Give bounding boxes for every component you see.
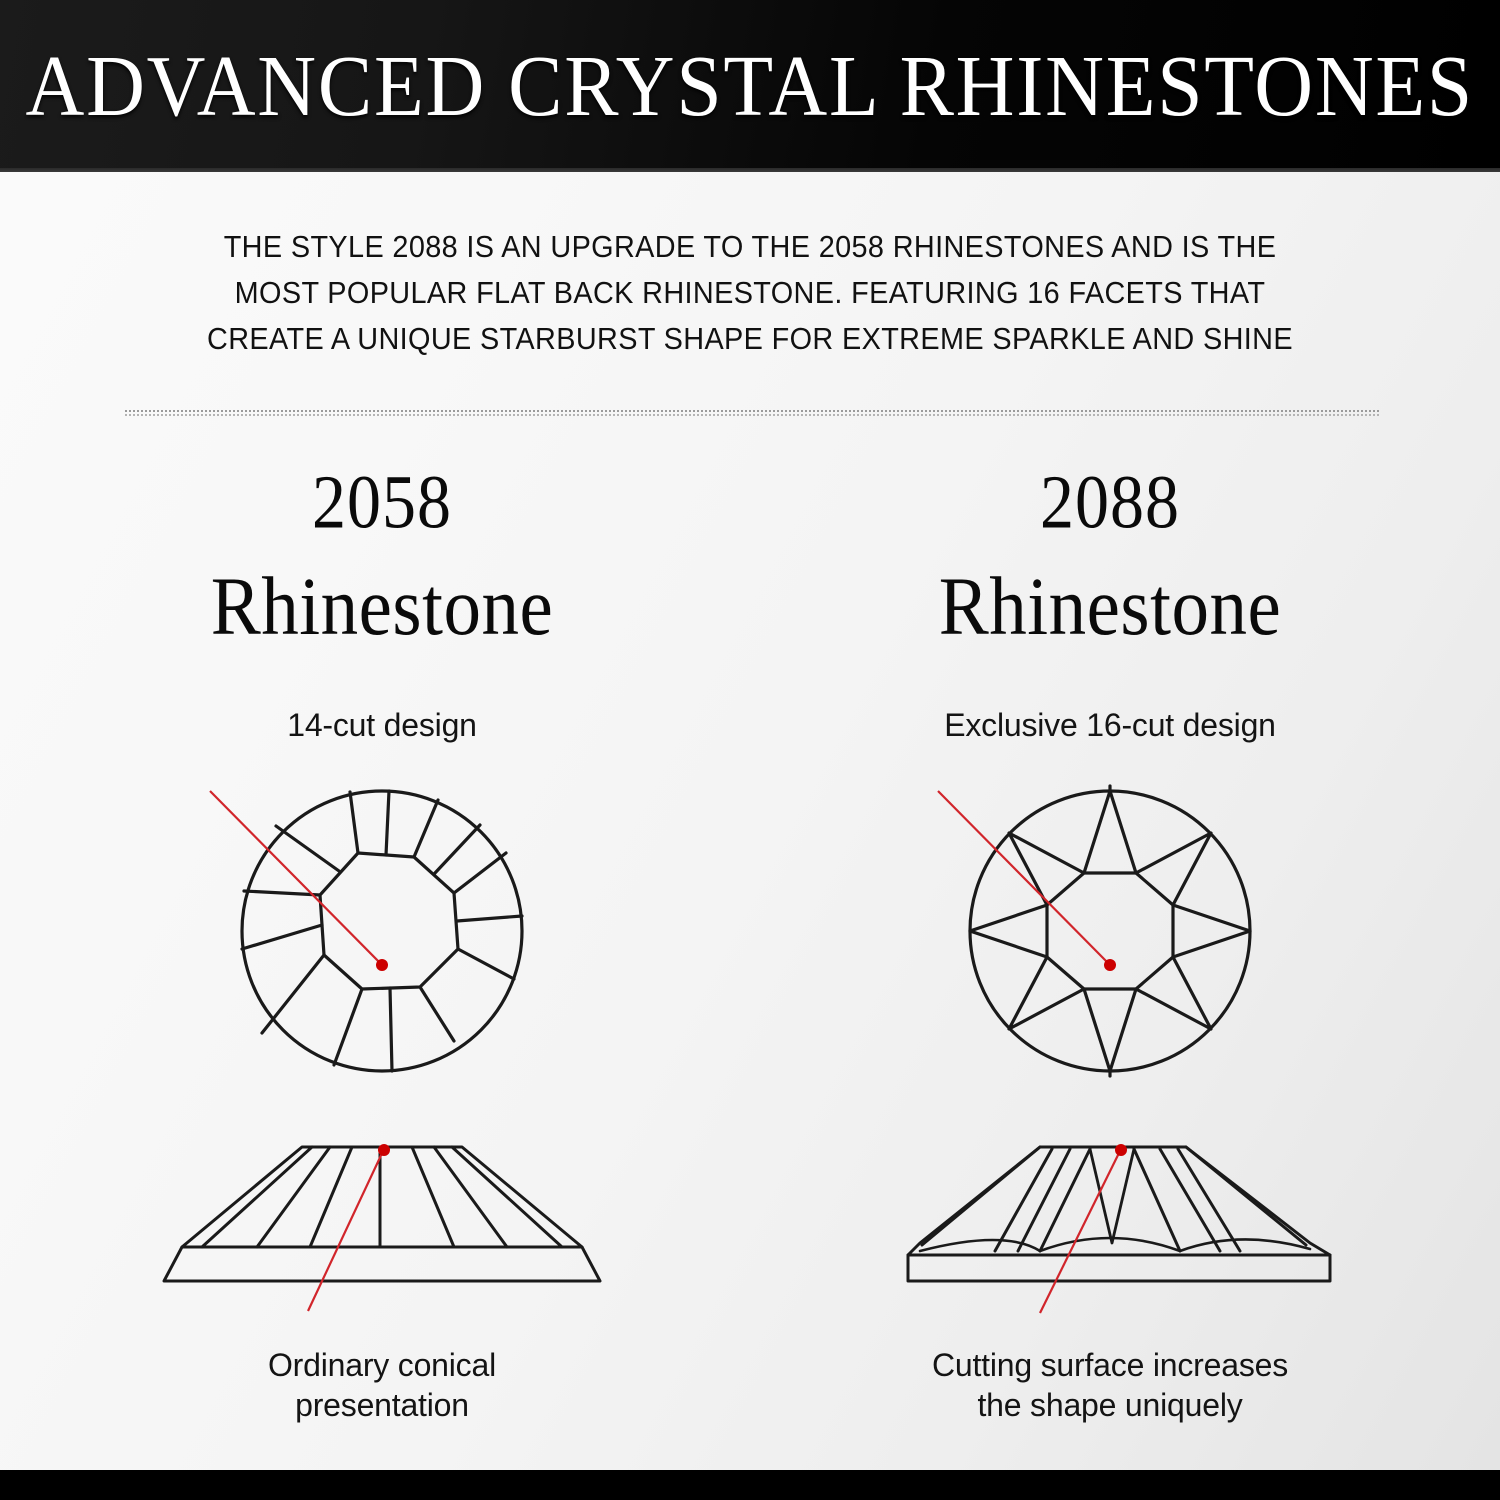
column-2058: 2058 Rhinestone 14-cut design — [62, 472, 702, 1425]
footer-bar — [0, 1470, 1500, 1500]
infographic-page: ADVANCED CRYSTAL RHINESTONES THE STYLE 2… — [0, 0, 1500, 1500]
content-panel: THE STYLE 2088 IS AN UPGRADE TO THE 2058… — [0, 172, 1500, 1470]
star-point-w — [970, 905, 1047, 957]
diagram-14-cut-topview — [62, 753, 702, 1083]
base-slab-icon — [908, 1255, 1330, 1281]
pointer-dot-icon — [1115, 1144, 1127, 1156]
inner-octagon-icon — [1047, 873, 1173, 989]
figure-2088-topview-label: Exclusive 16-cut design — [790, 705, 1430, 745]
pointer-dot-icon — [378, 1144, 390, 1156]
diagram-conical-sideview — [62, 1125, 702, 1315]
star-point-n — [1084, 791, 1136, 873]
pointer-line-icon — [308, 1149, 384, 1311]
page-title: ADVANCED CRYSTAL RHINESTONES — [26, 36, 1474, 136]
column-2058-number: 2058 — [62, 464, 702, 540]
column-2058-word: Rhinestone — [62, 566, 702, 649]
star-point-s — [1084, 989, 1136, 1071]
column-2058-heading: 2058 Rhinestone — [62, 472, 702, 641]
figure-2058-caption-line-2: presentation — [62, 1385, 702, 1425]
star-point-ne — [1136, 833, 1211, 905]
diagram-16-cut-starburst — [790, 753, 1430, 1083]
pointer-line-icon — [210, 791, 382, 965]
inner-octagon-icon — [320, 853, 458, 989]
cone-body-icon — [182, 1147, 582, 1247]
pointer-dot-icon — [376, 959, 388, 971]
pointer-line-icon — [938, 791, 1110, 965]
intro-paragraph: THE STYLE 2088 IS AN UPGRADE TO THE 2058… — [164, 224, 1336, 362]
figure-2088-caption-line-2: the shape uniquely — [790, 1385, 1430, 1425]
figure-2088-caption-line-1: Cutting surface increases — [790, 1345, 1430, 1385]
star-point-nw — [1009, 833, 1084, 905]
column-2088-number: 2088 — [790, 464, 1430, 540]
star-point-se — [1136, 957, 1211, 1029]
column-2088: 2088 Rhinestone Exclusive 16-cut design — [790, 472, 1430, 1425]
figure-2088-topview: Exclusive 16-cut design — [790, 705, 1430, 1105]
intro-line-2: MOST POPULAR FLAT BACK RHINESTONE. FEATU… — [164, 270, 1336, 316]
pointer-dot-icon — [1104, 959, 1116, 971]
figure-2058-topview: 14-cut design — [62, 705, 702, 1105]
intro-line-1: THE STYLE 2088 IS AN UPGRADE TO THE 2058… — [164, 224, 1336, 270]
diagram-faceted-sideview — [790, 1125, 1430, 1315]
figure-2058-sideview-label: Ordinary conical presentation — [62, 1345, 702, 1425]
header-banner: ADVANCED CRYSTAL RHINESTONES — [0, 0, 1500, 172]
figure-2058-sideview: Ordinary conical presentation — [62, 1125, 702, 1425]
figure-2058-caption-line-1: Ordinary conical — [62, 1345, 702, 1385]
star-point-sw — [1009, 957, 1084, 1029]
intro-line-3: CREATE A UNIQUE STARBURST SHAPE FOR EXTR… — [164, 316, 1336, 362]
section-divider — [125, 410, 1380, 416]
column-2088-word: Rhinestone — [790, 566, 1430, 649]
star-point-e — [1173, 905, 1250, 957]
figure-2088-sideview: Cutting surface increases the shape uniq… — [790, 1125, 1430, 1425]
figure-2058-topview-label: 14-cut design — [62, 705, 702, 745]
column-2088-heading: 2088 Rhinestone — [790, 472, 1430, 641]
figure-2088-sideview-label: Cutting surface increases the shape uniq… — [790, 1345, 1430, 1425]
base-slab-icon — [164, 1247, 600, 1281]
